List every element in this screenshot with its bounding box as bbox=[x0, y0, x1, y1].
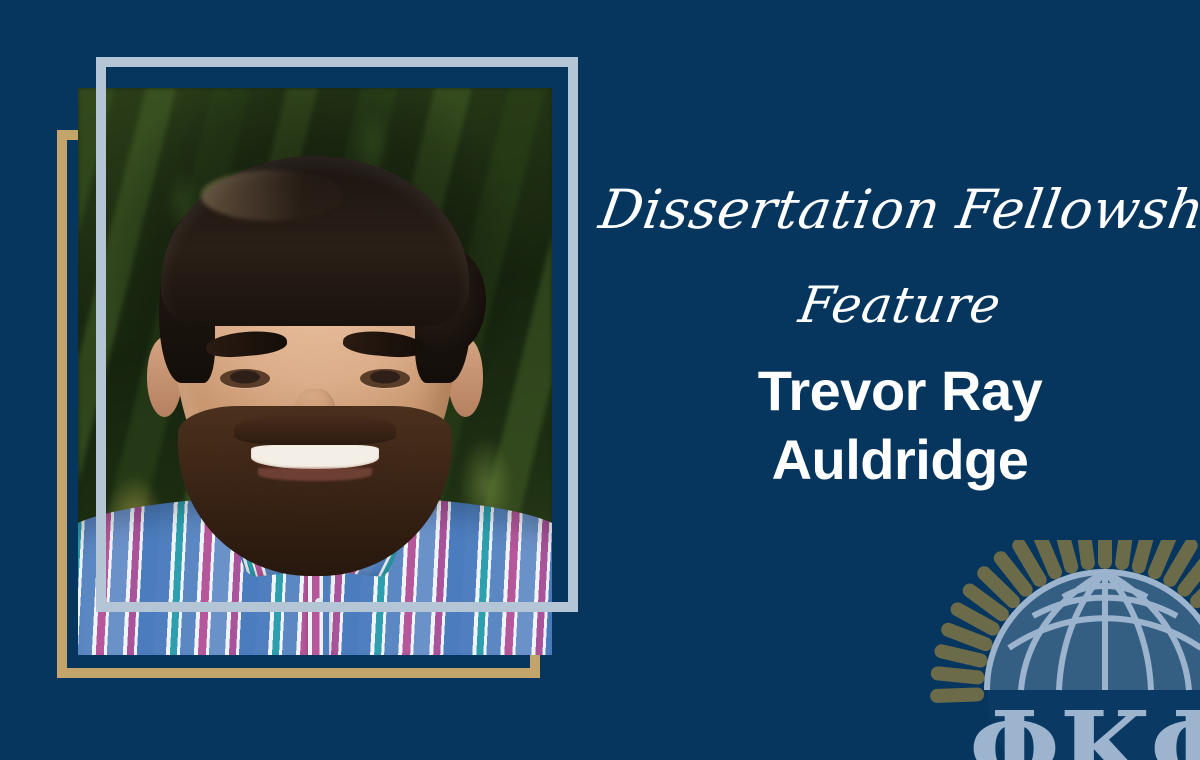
logo-ray bbox=[1122, 540, 1127, 563]
headline-script-line-2: Feature bbox=[595, 276, 1200, 334]
logo-ray bbox=[938, 673, 978, 677]
logo-ray bbox=[948, 630, 985, 644]
logo-ray bbox=[958, 609, 993, 628]
logo-ray bbox=[1139, 540, 1150, 567]
logo-ray bbox=[1039, 540, 1055, 572]
logo-ray bbox=[1061, 540, 1072, 567]
logo-ray bbox=[1155, 540, 1171, 572]
poster-canvas: Dissertation Fellowship Feature Trevor R… bbox=[0, 0, 1200, 760]
light-blue-accent-frame bbox=[96, 57, 578, 612]
phi-kappa-phi-logo: ΦΚΦ bbox=[925, 540, 1200, 760]
feature-name-line-1: Trevor Ray bbox=[600, 363, 1200, 419]
logo-ray bbox=[942, 651, 981, 660]
headline-script-line-1: Dissertation Fellowship bbox=[595, 178, 1200, 241]
logo-ray bbox=[1083, 540, 1088, 563]
logo-greek-letters: ΦΚΦ bbox=[969, 688, 1200, 760]
feature-name-line-2: Auldridge bbox=[600, 432, 1200, 488]
